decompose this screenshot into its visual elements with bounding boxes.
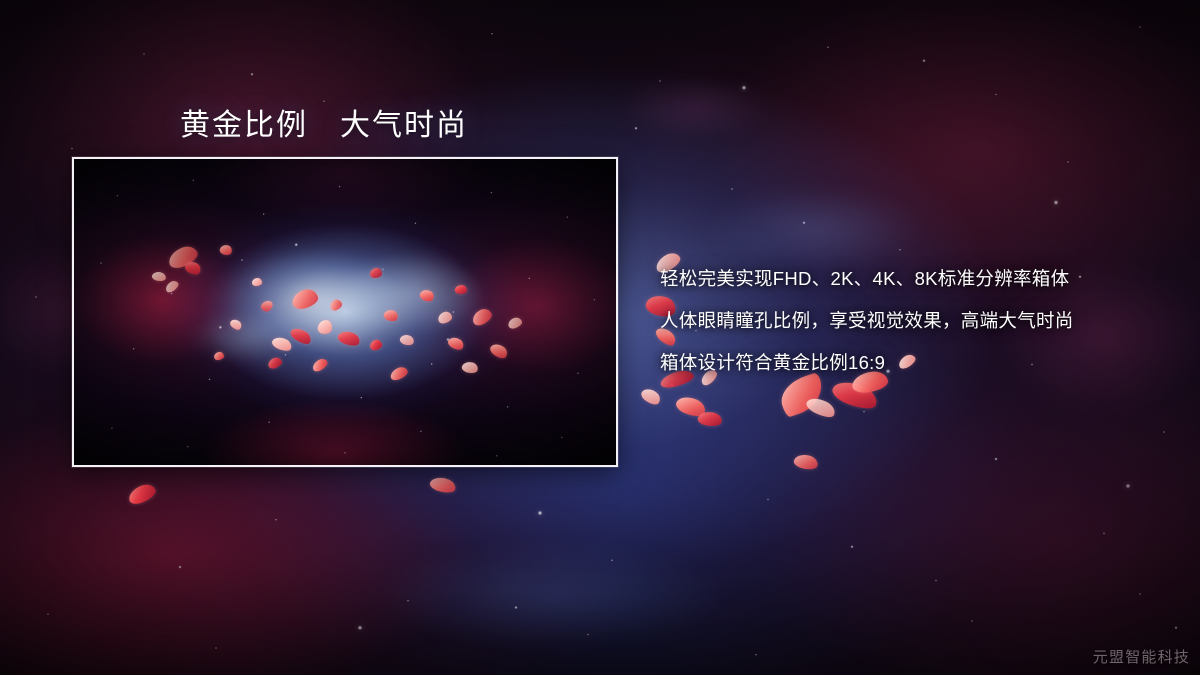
petal: [429, 475, 458, 496]
petal: [639, 385, 663, 407]
framed-image-vignette: [74, 159, 616, 465]
page-title: 黄金比例 大气时尚: [180, 100, 468, 144]
body-copy-line-3: 箱体设计符合黄金比例16:9: [660, 342, 1180, 384]
body-copy-block: 轻松完美实现FHD、2K、4K、8K标准分辨率箱体 人体眼睛瞳孔比例，享受视觉效…: [660, 258, 1180, 384]
body-copy-line-2: 人体眼睛瞳孔比例，享受视觉效果，高端大气时尚: [660, 300, 1180, 342]
body-copy-line-1: 轻松完美实现FHD、2K、4K、8K标准分辨率箱体: [660, 258, 1180, 300]
framed-nebula-image: [72, 157, 618, 467]
petal: [697, 410, 723, 428]
presentation-slide: 黄金比例 大气时尚 轻松完美实现FHD、2K、4K、8K标准分辨率箱体 人体眼睛…: [0, 0, 1200, 675]
company-watermark: 元盟智能科技: [1093, 646, 1190, 667]
petal: [793, 452, 820, 471]
petal: [126, 481, 158, 506]
